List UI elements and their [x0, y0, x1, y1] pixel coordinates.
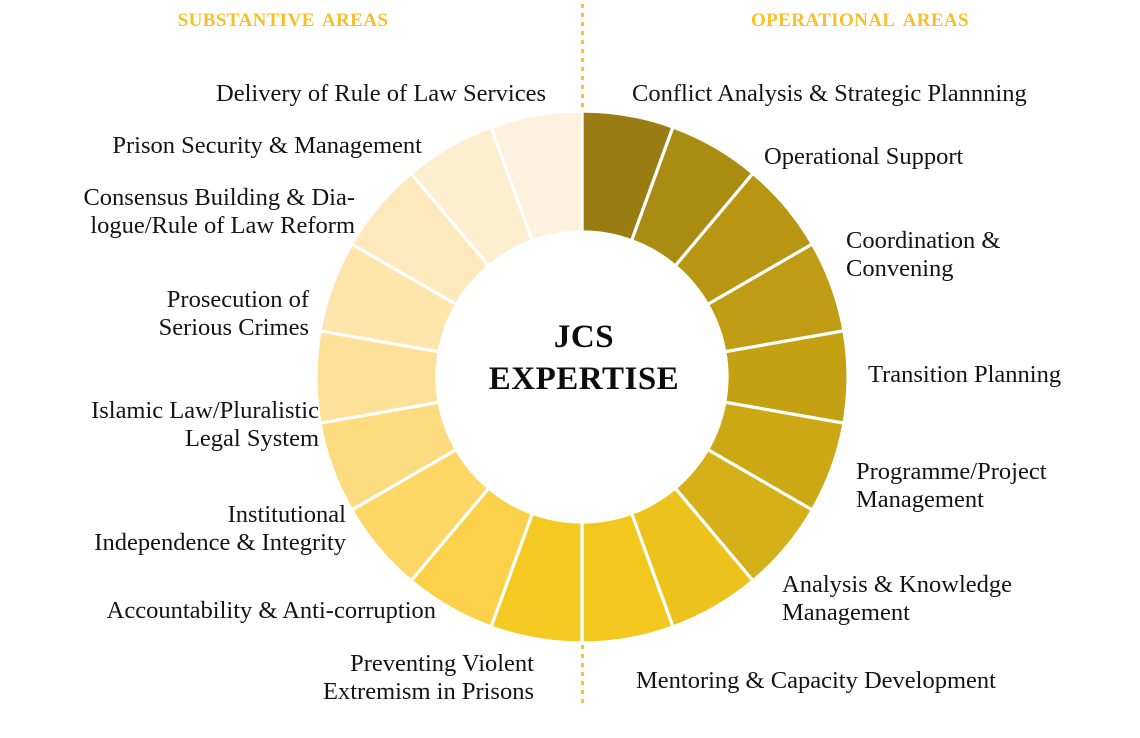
spoke-label-delivery-of-rule-of-law-services[interactable]: Delivery of Rule of Law Services: [126, 80, 546, 108]
heading-substantive-areas: Substantive Areas: [0, 2, 566, 33]
spoke-label-coordination-and-convening[interactable]: Coordination & Convening: [846, 227, 1116, 282]
spoke-label-preventing-violent-extremism[interactable]: Preventing Violent Extremism in Prisons: [244, 650, 534, 705]
spoke-label-mentoring-and-capacity-development[interactable]: Mentoring & Capacity Development: [636, 667, 1104, 695]
vertical-dotted-divider-bottom: [581, 645, 584, 705]
spoke-label-transition-planning[interactable]: Transition Planning: [868, 361, 1128, 389]
spoke-label-operational-support[interactable]: Operational Support: [764, 143, 1026, 171]
spoke-label-islamic-law-pluralistic-legal-system[interactable]: Islamic Law/Pluralistic Legal System: [12, 397, 319, 452]
diagram-canvas: Substantive Areas Operational Areas JCS …: [0, 0, 1140, 738]
heading-operational-areas: Operational Areas: [600, 2, 1120, 33]
spoke-label-programme-project-management[interactable]: Programme/Project Management: [856, 458, 1124, 513]
spoke-label-conflict-analysis-strategic-planning[interactable]: Conflict Analysis & Strategic Plannning: [632, 80, 1132, 108]
spoke-label-consensus-building-and-dialogue[interactable]: Consensus Building & Dia- logue/Rule of …: [10, 184, 355, 239]
spoke-label-accountability-and-anti-corruption[interactable]: Accountability & Anti-corruption: [16, 597, 436, 625]
spoke-label-analysis-and-knowledge-management[interactable]: Analysis & Knowledge Management: [782, 571, 1070, 626]
center-label-line1: JCS: [439, 317, 729, 359]
spoke-label-institutional-independence-integrity[interactable]: Institutional Independence & Integrity: [14, 501, 346, 556]
center-label: JCS EXPERTISE: [439, 317, 729, 401]
spoke-label-prosecution-of-serious-crimes[interactable]: Prosecution of Serious Crimes: [12, 286, 309, 341]
spoke-label-prison-security-and-management[interactable]: Prison Security & Management: [22, 132, 422, 160]
vertical-dotted-divider-top: [581, 4, 584, 110]
center-label-line2: EXPERTISE: [439, 359, 729, 401]
